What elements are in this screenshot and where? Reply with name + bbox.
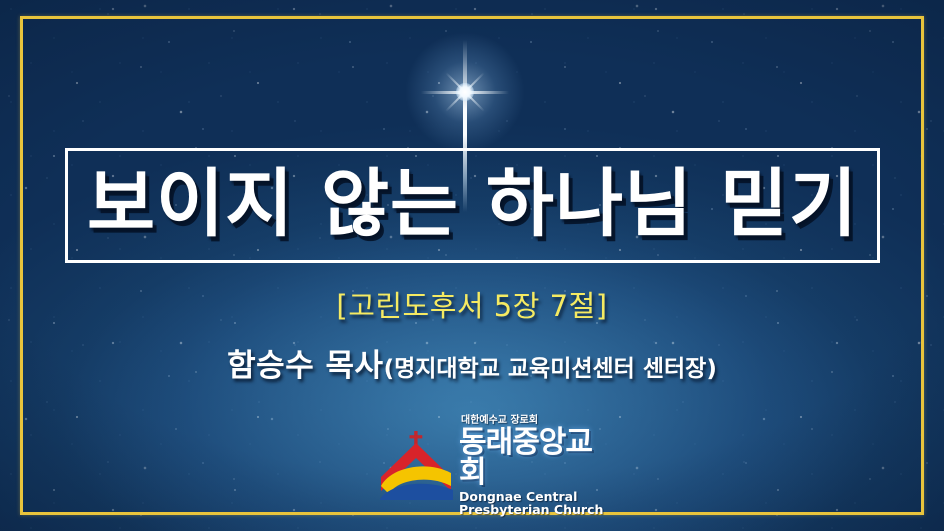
page-title: 보이지 않는 하나님 믿기 — [87, 167, 858, 241]
scripture-reference: [고린도후서 5장 7절] — [0, 283, 944, 325]
cross-icon — [410, 431, 423, 445]
church-logo: 대한예수교 장로회 동래중앙교회 Dongnae Central Presbyt… — [375, 427, 605, 503]
church-name-english: Dongnae Central Presbyterian Church — [459, 491, 605, 516]
speaker-affiliation: (명지대학교 교육미션센터 센터장) — [384, 356, 717, 382]
speaker-name: 함승수 목사 — [227, 348, 383, 384]
church-roof-cross-logo-icon — [375, 429, 459, 501]
title-box: 보이지 않는 하나님 믿기 — [65, 148, 880, 263]
sermon-title-slide: 보이지 않는 하나님 믿기 [고린도후서 5장 7절] 함승수 목사(명지대학교… — [0, 0, 944, 531]
speaker-line: 함승수 목사(명지대학교 교육미션센터 센터장) — [0, 340, 944, 385]
logo-wordmark: 대한예수교 장로회 동래중앙교회 Dongnae Central Presbyt… — [459, 414, 605, 516]
church-name-korean: 동래중앙교회 — [459, 428, 605, 488]
